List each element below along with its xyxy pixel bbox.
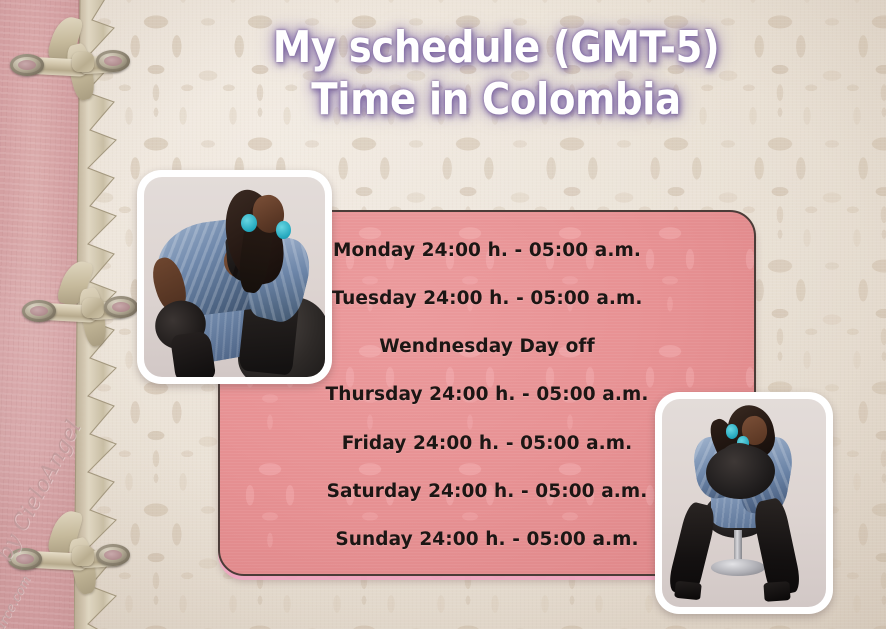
heel-left-shape xyxy=(674,581,702,600)
heel-right-shape xyxy=(763,581,790,602)
poster-canvas: by CieloAngel ource.com My schedule (GMT… xyxy=(0,0,886,629)
photo-leaning-on-chair xyxy=(137,170,332,384)
photo-leaning-on-chair-image xyxy=(144,177,325,377)
earring-right-icon xyxy=(276,221,290,239)
title-line-2: Time in Colombia xyxy=(223,74,769,126)
earring-left-icon xyxy=(241,214,257,232)
photo-seated-on-chair-image xyxy=(662,399,826,607)
photo-seated-on-chair xyxy=(655,392,833,614)
title-line-1: My schedule (GMT-5) xyxy=(223,22,769,74)
left-decorative-border: by CieloAngel ource.com xyxy=(0,0,118,629)
chair-base-shape xyxy=(711,559,765,576)
page-title: My schedule (GMT-5) Time in Colombia xyxy=(223,22,769,126)
boot-shape xyxy=(170,330,216,377)
earring-left-icon xyxy=(726,424,738,439)
